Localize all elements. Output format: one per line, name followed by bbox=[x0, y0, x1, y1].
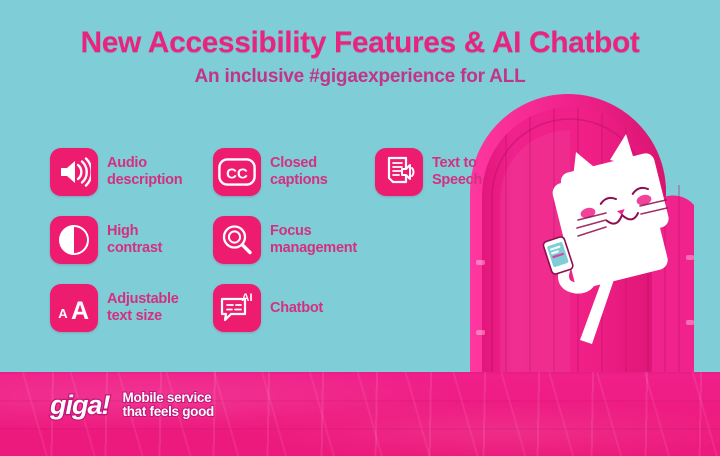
feature-focus-management[interactable]: Focus management bbox=[213, 216, 357, 264]
feature-text-to-speech[interactable]: Text to Speech bbox=[375, 148, 482, 196]
brand-tagline: Mobile service that feels good bbox=[123, 391, 215, 420]
feature-list: Audio description CC Closed captions bbox=[50, 148, 520, 352]
audio-description-icon bbox=[50, 148, 98, 196]
header: New Accessibility Features & AI Chatbot … bbox=[0, 0, 720, 88]
text-size-large-glyph: A bbox=[71, 297, 89, 323]
feature-label: Text to Speech bbox=[432, 155, 482, 189]
feature-closed-captions[interactable]: CC Closed captions bbox=[213, 148, 328, 196]
feature-label: High contrast bbox=[107, 223, 162, 257]
feature-label: Closed captions bbox=[270, 155, 328, 189]
ai-badge-glyph: AI bbox=[242, 292, 253, 304]
feature-audio-description[interactable]: Audio description bbox=[50, 148, 182, 196]
high-contrast-icon bbox=[50, 216, 98, 264]
feature-label: Audio description bbox=[107, 155, 182, 189]
poster-canvas: New Accessibility Features & AI Chatbot … bbox=[0, 0, 720, 456]
feature-high-contrast[interactable]: High contrast bbox=[50, 216, 162, 264]
page-title: New Accessibility Features & AI Chatbot bbox=[0, 27, 720, 59]
feature-row: A A Adjustable text size bbox=[50, 284, 520, 352]
feature-row: High contrast Focus management bbox=[50, 216, 520, 284]
feature-label: Chatbot bbox=[270, 300, 323, 317]
giga-logo-wordmark: giga! bbox=[50, 392, 110, 419]
adjustable-text-size-icon: A A bbox=[50, 284, 98, 332]
focus-management-icon bbox=[213, 216, 261, 264]
chatbot-icon: AI bbox=[213, 284, 261, 332]
closed-captions-icon: CC bbox=[213, 148, 261, 196]
text-to-speech-icon bbox=[375, 148, 423, 196]
feature-row: Audio description CC Closed captions bbox=[50, 148, 520, 216]
page-subtitle: An inclusive #gigaexperience for ALL bbox=[0, 66, 720, 88]
feature-label: Focus management bbox=[270, 223, 357, 257]
brand-logo-block[interactable]: giga! Mobile service that feels good bbox=[50, 391, 214, 420]
text-size-small-glyph: A bbox=[58, 306, 68, 321]
cc-glyph-text: CC bbox=[226, 166, 248, 183]
feature-chatbot[interactable]: AI Chatbot bbox=[213, 284, 323, 332]
feature-label: Adjustable text size bbox=[107, 291, 179, 325]
feature-adjustable-text-size[interactable]: A A Adjustable text size bbox=[50, 284, 179, 332]
